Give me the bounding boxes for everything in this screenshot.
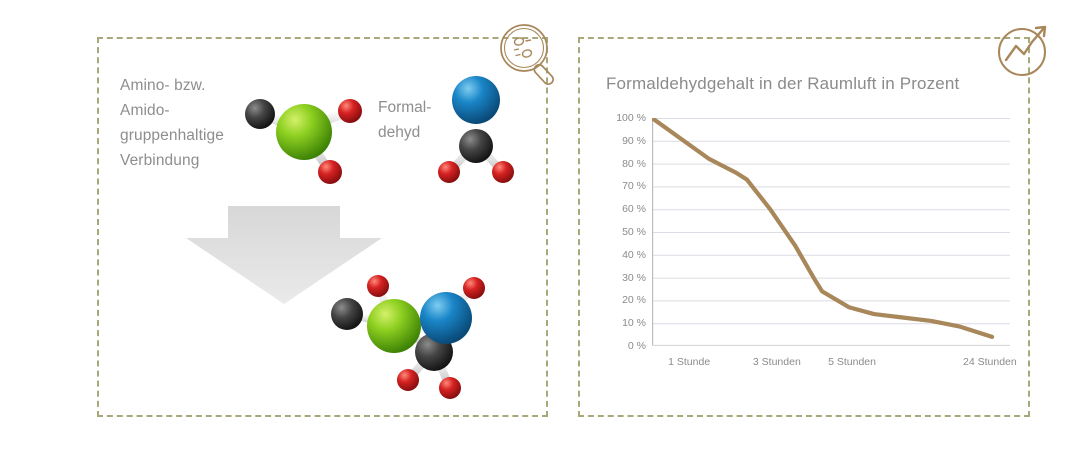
reactant-label-line: gruppenhaltige (120, 123, 280, 148)
y-axis-tick-label: 90 % (604, 135, 646, 147)
chart-plot-area: 0 %10 %20 %30 %40 %50 %60 %70 %80 %90 %1… (600, 118, 1010, 380)
y-axis-tick-label: 100 % (604, 112, 646, 124)
y-axis-tick-label: 80 % (604, 158, 646, 170)
x-axis-tick-label: 5 Stunden (828, 356, 876, 368)
y-axis-tick-label: 70 % (604, 180, 646, 192)
y-axis-tick-label: 60 % (604, 203, 646, 215)
chart-line-plot (652, 118, 1010, 346)
y-axis-tick-label: 10 % (604, 317, 646, 329)
formaldehyde-label-line: Formal- (378, 95, 458, 120)
y-axis-tick-label: 20 % (604, 294, 646, 306)
reactant-label: Amino- bzw. Amido- gruppenhaltige Verbin… (120, 73, 280, 173)
halbaminal-molecule (322, 272, 500, 404)
chart-title: Formaldehydgehalt in der Raumluft in Pro… (606, 74, 959, 94)
x-axis-tick-label: 1 Stunde (668, 356, 710, 368)
reactant-label-line: Amido- (120, 98, 280, 123)
y-axis-tick-label: 0 % (604, 340, 646, 352)
reactant-label-line: Verbindung (120, 148, 280, 173)
x-axis-tick-label: 3 Stunden (753, 356, 801, 368)
reactant-label-line: Amino- bzw. (120, 73, 280, 98)
formaldehyde-label: Formal- dehyd (378, 95, 458, 145)
y-axis-labels: 0 %10 %20 %30 %40 %50 %60 %70 %80 %90 %1… (600, 118, 646, 380)
x-axis-tick-label: 24 Stunden (963, 356, 1017, 368)
x-axis-labels: 1 Stunde3 Stunden5 Stunden24 Stunden (600, 356, 1010, 378)
y-axis-tick-label: 30 % (604, 272, 646, 284)
trend-chart-icon (992, 20, 1060, 84)
y-axis-tick-label: 50 % (604, 226, 646, 238)
formaldehyde-label-line: dehyd (378, 120, 458, 145)
magnifier-molecules-icon (498, 22, 562, 92)
y-axis-tick-label: 40 % (604, 249, 646, 261)
